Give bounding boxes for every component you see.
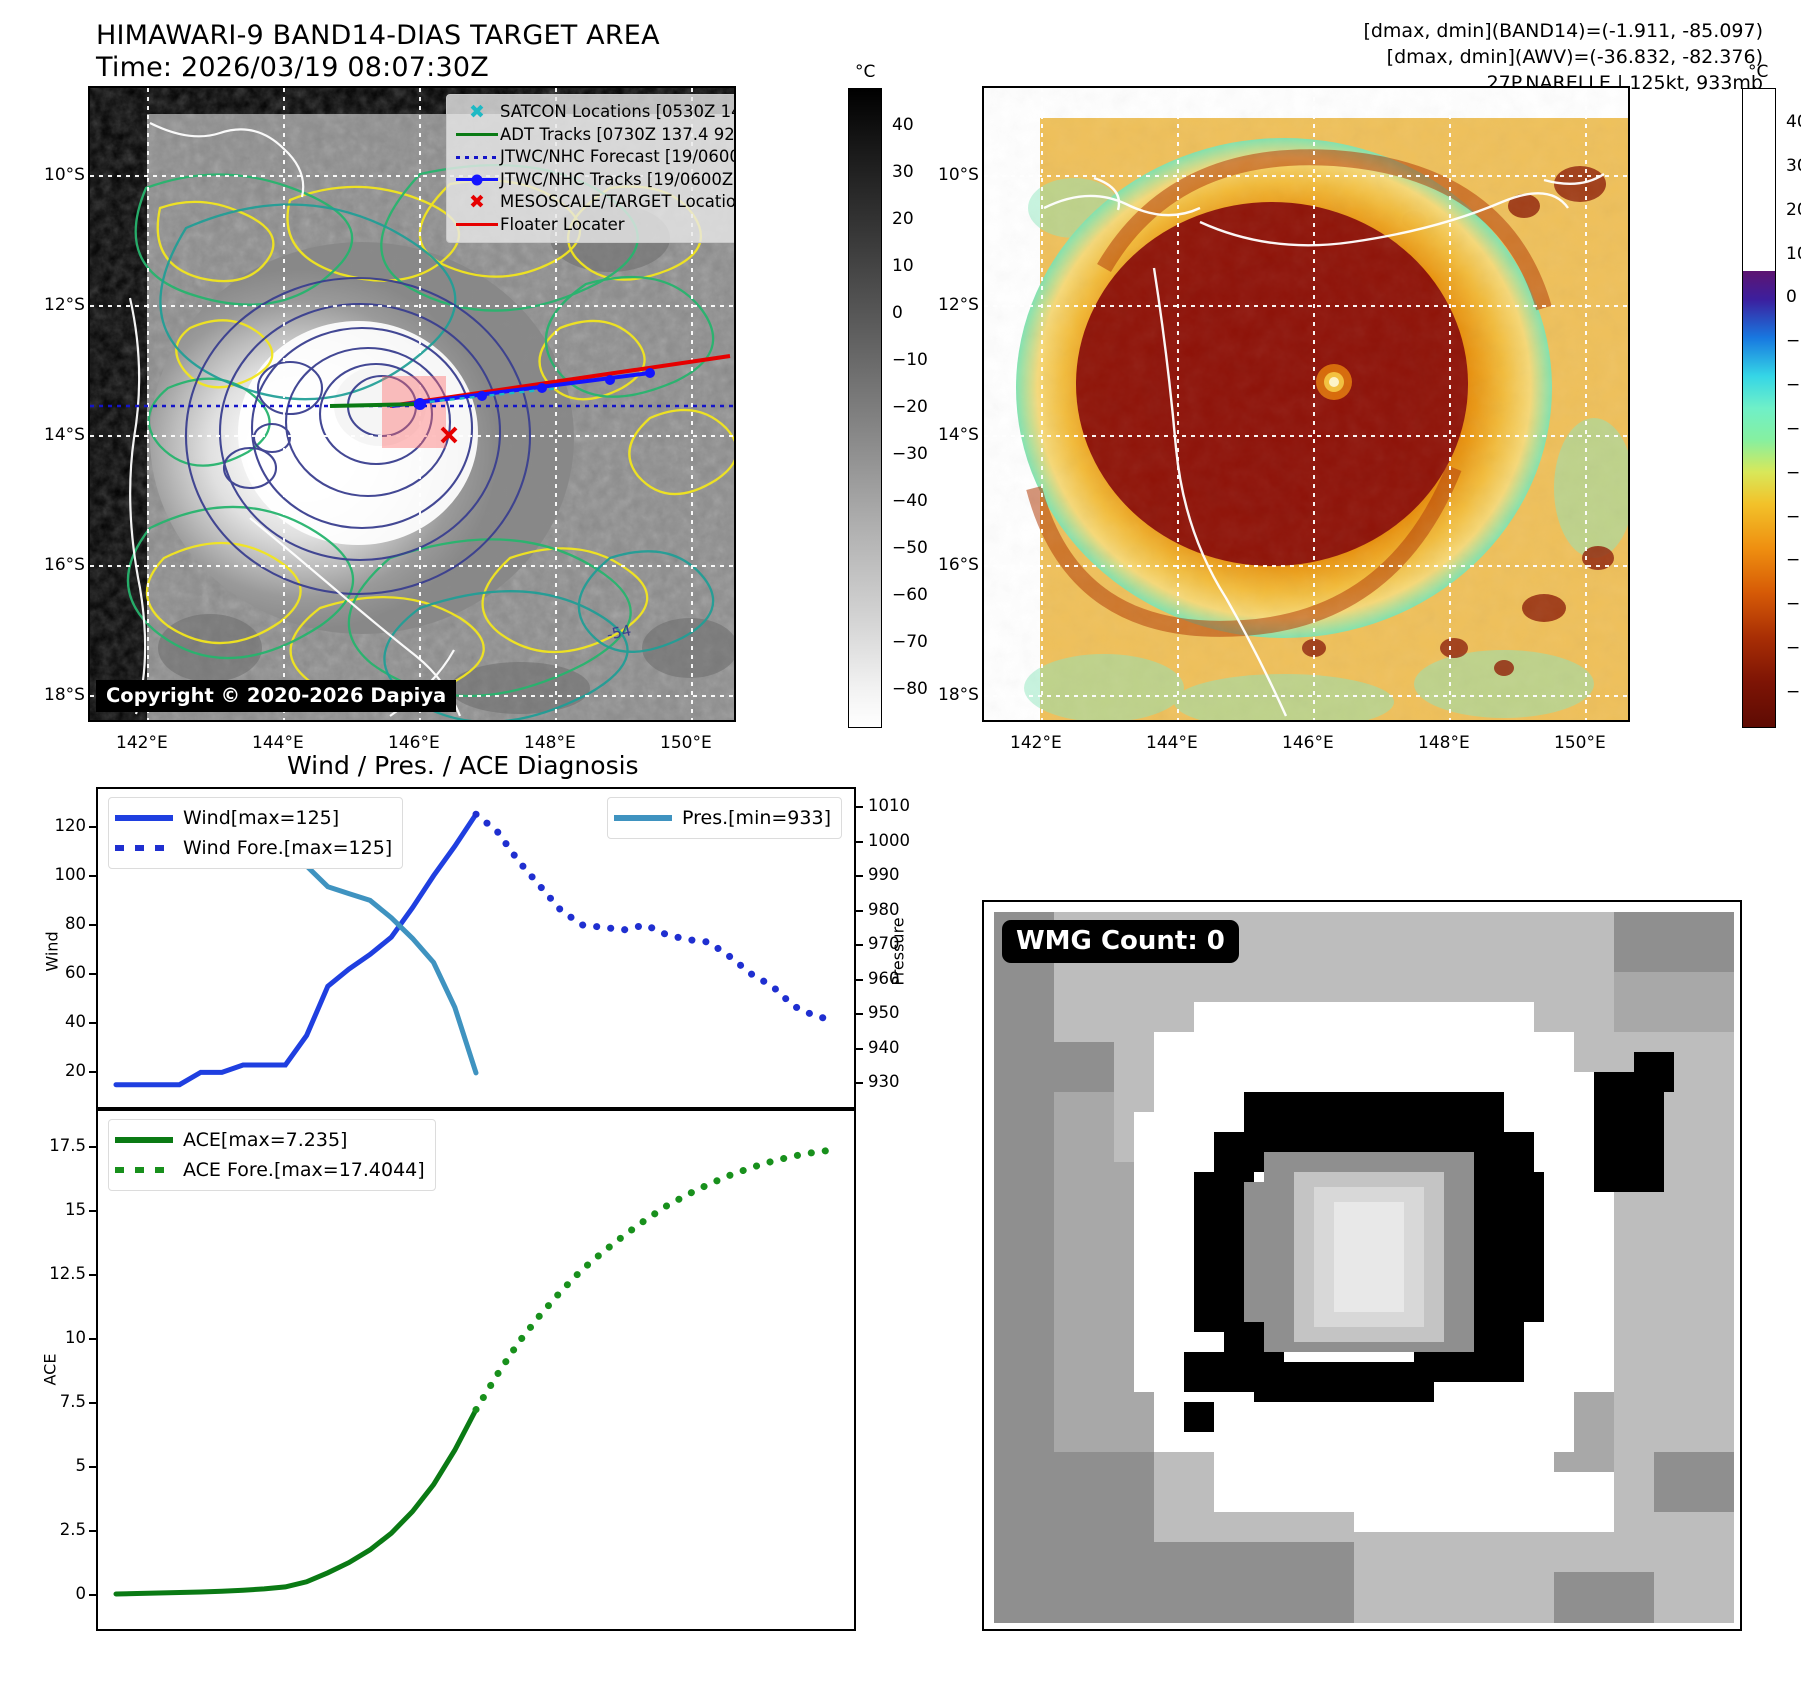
legend-label: ACE Fore.[max=17.4044] (183, 1155, 425, 1185)
lon-tick-label: 142°E (1010, 733, 1062, 753)
legend-item-pressure: Pres.[min=933] (614, 803, 831, 833)
legend-label: JTWC/NHC Forecast [19/0600Z] (500, 146, 736, 169)
lat-tick-label: 18°S (938, 685, 979, 705)
axis-tick-mark (854, 841, 863, 843)
jtwc-forecast-dotted-icon (454, 156, 500, 159)
lon-tick-label: 142°E (116, 733, 168, 753)
legend-label: Pres.[min=933] (682, 803, 831, 833)
axis-tick-label: 7.5 (60, 1392, 86, 1411)
wind-solid-icon (115, 815, 183, 821)
lon-tick-label: 150°E (1554, 733, 1606, 753)
stats-band14: [dmax, dmin](BAND14)=(-1.911, -85.097) (1363, 18, 1763, 44)
legend-item-jtwc-tracks: JTWC/NHC Tracks [19/0600Z] (454, 169, 736, 192)
wind-axis-title: Wind (43, 892, 62, 1012)
page-title: HIMAWARI-9 BAND14-DIAS TARGET AREA (96, 20, 660, 51)
axis-tick-mark (89, 1530, 98, 1532)
axis-tick-mark (854, 1013, 863, 1015)
axis-tick-label: 80 (65, 914, 86, 933)
colorbar-left (848, 88, 882, 728)
colorbar-tick-label: −10 (1786, 331, 1801, 351)
colorbar-tick-label: 40 (1786, 112, 1801, 132)
lon-tick-label: 144°E (1146, 733, 1198, 753)
wind-legend: Wind[max=125] Wind Fore.[max=125] (108, 797, 403, 869)
axis-tick-mark (89, 1274, 98, 1276)
axis-tick-label: 950 (868, 1003, 900, 1022)
ace-legend: ACE[max=7.235] ACE Fore.[max=17.4044] (108, 1119, 436, 1191)
axis-tick-label: 0 (76, 1584, 87, 1603)
axis-tick-mark (89, 1402, 98, 1404)
axis-tick-mark (89, 875, 98, 877)
mesoscale-x-icon: ✖ (454, 193, 500, 212)
lat-tick-label: 14°S (938, 425, 979, 445)
axis-tick-mark (89, 924, 98, 926)
axis-tick-mark (89, 1338, 98, 1340)
colorbar-tick-label: −30 (1786, 419, 1801, 439)
colorbar-tick-label: −50 (1786, 507, 1801, 527)
lon-tick-label: 146°E (1282, 733, 1334, 753)
colorbar-tick-label: −20 (892, 397, 928, 417)
axis-tick-label: 940 (868, 1038, 900, 1057)
pressure-solid-icon (614, 815, 682, 821)
lon-tick-label: 146°E (388, 733, 440, 753)
page-time: Time: 2026/03/19 08:07:30Z (96, 52, 489, 83)
axis-tick-label: 1010 (868, 796, 910, 815)
axis-tick-label: 12.5 (49, 1264, 86, 1283)
ace-chart[interactable]: ACE[max=7.235] ACE Fore.[max=17.4044] (96, 1109, 856, 1631)
colorbar-tick-label: −80 (892, 679, 928, 699)
axis-tick-label: 10 (65, 1328, 86, 1347)
colorbar-tick-label: −80 (1786, 638, 1801, 658)
lon-tick-label: 148°E (1418, 733, 1470, 753)
axis-tick-label: 930 (868, 1072, 900, 1091)
colorbar-tick-label: 20 (1786, 200, 1801, 220)
series-ace-fore- (476, 1150, 836, 1410)
colorbar-tick-label: 20 (892, 209, 914, 229)
colorbar-tick-label: 30 (892, 162, 914, 182)
axis-tick-mark (89, 1210, 98, 1212)
legend-item-wind-forecast: Wind Fore.[max=125] (115, 833, 392, 863)
colorbar-tick-label: −40 (1786, 463, 1801, 483)
wmg-panel[interactable]: WMG Count: 0 (982, 900, 1742, 1631)
axis-tick-mark (854, 979, 863, 981)
enhanced-ir-image (984, 88, 1628, 720)
legend-label: Wind[max=125] (183, 803, 339, 833)
jtwc-tracks-line-dot-icon (454, 178, 500, 181)
axis-tick-label: 990 (868, 865, 900, 884)
ace-forecast-dotted-icon (115, 1167, 183, 1173)
colorbar-tick-label: −10 (892, 350, 928, 370)
colorbar-tick-label: −90 (1786, 682, 1801, 702)
ace-solid-icon (115, 1137, 183, 1143)
legend-item-satcon: ✖ SATCON Locations [0530Z 140 928] (454, 101, 736, 124)
lat-tick-label: 16°S (44, 555, 85, 575)
axis-tick-label: 15 (65, 1200, 86, 1219)
wmg-count-badge: WMG Count: 0 (1002, 920, 1239, 963)
diagnosis-chart-title: Wind / Pres. / ACE Diagnosis (287, 751, 639, 780)
colorbar-tick-label: −20 (1786, 375, 1801, 395)
axis-tick-mark (89, 826, 98, 828)
lat-tick-label: 16°S (938, 555, 979, 575)
copyright-banner: Copyright © 2020-2026 Dapiya (96, 680, 456, 712)
colorbar-tick-label: −70 (892, 632, 928, 652)
axis-tick-mark (89, 1594, 98, 1596)
ace-axis-title: ACE (41, 1310, 60, 1430)
legend-item-adt: ADT Tracks [0730Z 137.4 922.3] (454, 124, 736, 147)
colorbar-tick-label: 40 (892, 115, 914, 135)
colorbar-tick-label: 0 (1786, 287, 1797, 307)
adt-line-icon (454, 133, 500, 136)
map-legend: ✖ SATCON Locations [0530Z 140 928] ADT T… (446, 94, 736, 243)
legend-item-mesoscale: ✖ MESOSCALE/TARGET Location (454, 191, 736, 214)
colorbar-tick-label: 10 (892, 256, 914, 276)
colorbar-tick-label: 0 (892, 303, 903, 323)
lat-tick-label: 10°S (938, 165, 979, 185)
wind-pressure-chart[interactable]: Wind[max=125] Wind Fore.[max=125] Pres.[… (96, 787, 856, 1109)
satcon-x-icon: ✖ (454, 103, 500, 122)
axis-tick-label: 20 (65, 1061, 86, 1080)
legend-label: MESOSCALE/TARGET Location (500, 191, 736, 214)
axis-tick-label: 60 (65, 963, 86, 982)
map-panel-band14-grayscale[interactable]: -54 ✖ SATCON Locations [0530Z 140 928] A… (88, 86, 736, 722)
wind-forecast-dotted-icon (115, 845, 183, 851)
colorbar-tick-label: −30 (892, 444, 928, 464)
legend-item-jtwc-forecast: JTWC/NHC Forecast [19/0600Z] (454, 146, 736, 169)
colorbar-tick-label: 10 (1786, 244, 1801, 264)
axis-tick-mark (89, 973, 98, 975)
legend-item-ace: ACE[max=7.235] (115, 1125, 425, 1155)
axis-tick-mark (854, 875, 863, 877)
axis-tick-mark (854, 806, 863, 808)
legend-label: JTWC/NHC Tracks [19/0600Z] (500, 169, 736, 192)
stats-awv: [dmax, dmin](AWV)=(-36.832, -82.376) (1363, 44, 1763, 70)
legend-label: ACE[max=7.235] (183, 1125, 347, 1155)
colorbar-tick-label: −50 (892, 538, 928, 558)
axis-tick-mark (89, 1071, 98, 1073)
lat-tick-label: 12°S (44, 295, 85, 315)
axis-tick-label: 980 (868, 900, 900, 919)
lon-tick-label: 150°E (660, 733, 712, 753)
lon-tick-label: 144°E (252, 733, 304, 753)
axis-tick-mark (854, 1048, 863, 1050)
axis-tick-label: 40 (65, 1012, 86, 1031)
series-wind-fore- (476, 814, 836, 1021)
colorbar-tick-label: −70 (1786, 594, 1801, 614)
axis-tick-mark (854, 1082, 863, 1084)
axis-tick-mark (854, 910, 863, 912)
legend-item-floater: Floater Locater (454, 214, 736, 237)
legend-label: Floater Locater (500, 214, 625, 237)
legend-item-wind: Wind[max=125] (115, 803, 392, 833)
axis-tick-mark (89, 1022, 98, 1024)
colorbar-tick-label: −60 (1786, 550, 1801, 570)
floater-line-icon (454, 223, 500, 226)
colorbar-tick-label: −40 (892, 491, 928, 511)
colorbar-unit-left: °C (855, 62, 875, 82)
lat-tick-label: 14°S (44, 425, 85, 445)
axis-tick-label: 120 (55, 816, 87, 835)
axis-tick-label: 970 (868, 934, 900, 953)
header-stats: [dmax, dmin](BAND14)=(-1.911, -85.097) [… (1363, 18, 1763, 96)
colorbar-right (1742, 88, 1776, 728)
axis-tick-label: 2.5 (60, 1520, 86, 1539)
axis-tick-mark (89, 1146, 98, 1148)
wmg-image (994, 912, 1734, 1623)
map-panel-enhanced-ir[interactable] (982, 86, 1630, 722)
series-ace (116, 1410, 476, 1594)
legend-label: Wind Fore.[max=125] (183, 833, 392, 863)
axis-tick-label: 960 (868, 969, 900, 988)
colorbar-unit-right: °C (1748, 62, 1768, 82)
axis-tick-label: 5 (76, 1456, 87, 1475)
adt-track-line (330, 404, 420, 406)
dashboard-root: HIMAWARI-9 BAND14-DIAS TARGET AREA Time:… (0, 0, 1801, 1690)
legend-item-ace-forecast: ACE Fore.[max=17.4044] (115, 1155, 425, 1185)
legend-label: ADT Tracks [0730Z 137.4 922.3] (500, 124, 736, 147)
colorbar-tick-label: 30 (1786, 156, 1801, 176)
lat-tick-label: 10°S (44, 165, 85, 185)
lat-tick-label: 18°S (44, 685, 85, 705)
axis-tick-label: 17.5 (49, 1136, 86, 1155)
legend-label: SATCON Locations [0530Z 140 928] (500, 101, 736, 124)
axis-tick-label: 1000 (868, 831, 910, 850)
axis-tick-mark (89, 1466, 98, 1468)
lon-tick-label: 148°E (524, 733, 576, 753)
axis-tick-mark (854, 944, 863, 946)
axis-tick-label: 100 (55, 865, 87, 884)
colorbar-tick-label: −60 (892, 585, 928, 605)
lat-tick-label: 12°S (938, 295, 979, 315)
pressure-legend: Pres.[min=933] (607, 797, 842, 839)
